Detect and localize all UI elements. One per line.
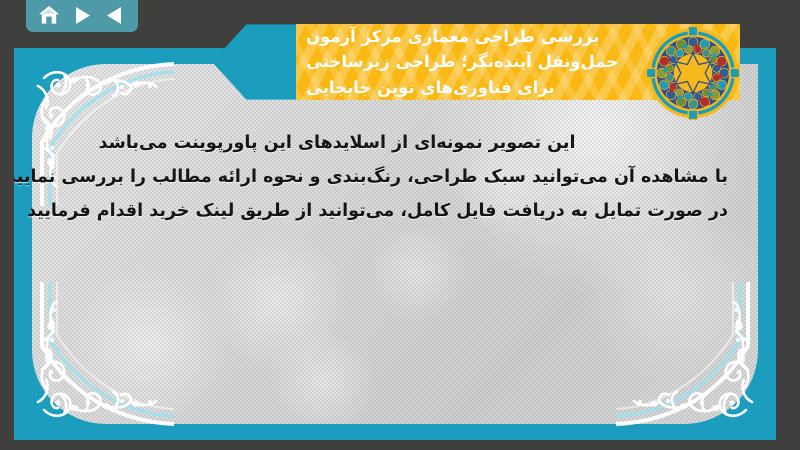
triangle-right-icon — [74, 6, 91, 25]
slide-body-line-2: با مشاهده آن می‌توانید سبک طراحی، رنگ‌بن… — [54, 160, 728, 194]
home-button[interactable] — [36, 3, 62, 27]
slide-body-line-3: در صورت تمایل به دریافت فایل کامل، می‌تو… — [54, 194, 728, 228]
next-slide-button[interactable] — [69, 3, 95, 27]
title-line-2: حمل‌ونقل آینده‌نگر؛ طراحی زیرساختی — [306, 49, 618, 74]
slide-content-panel — [32, 64, 758, 424]
banner-body: بررسی طراحی معماری مرکز آزمون حمل‌ونقل آ… — [296, 24, 740, 100]
navigation-toolbar — [26, 0, 138, 32]
triangle-left-icon — [106, 6, 123, 25]
slide-body-text: این تصویر نمونه‌ای از اسلایدهای این پاور… — [54, 126, 728, 228]
slide-title-banner: بررسی طراحی معماری مرکز آزمون حمل‌ونقل آ… — [212, 22, 740, 102]
title-line-3: برای فناوری‌های نوین جابجایی — [306, 75, 555, 100]
slide-viewer: این تصویر نمونه‌ای از اسلایدهای این پاور… — [0, 0, 800, 450]
banner-pennant-shape — [212, 22, 298, 102]
presentation-slide: این تصویر نمونه‌ای از اسلایدهای این پاور… — [14, 48, 776, 440]
home-icon — [38, 5, 60, 25]
slide-body-line-1: این تصویر نمونه‌ای از اسلایدهای این پاور… — [54, 126, 728, 160]
title-line-1: بررسی طراحی معماری مرکز آزمون — [306, 24, 599, 49]
previous-slide-button[interactable] — [102, 3, 128, 27]
